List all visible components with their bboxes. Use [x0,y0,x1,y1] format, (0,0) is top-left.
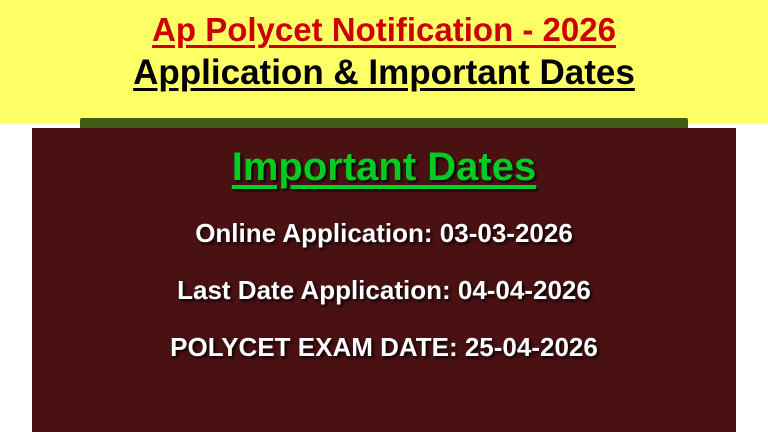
list-item: POLYCET EXAM DATE: 25-04-2026 [170,332,598,363]
list-item: Last Date Application: 04-04-2026 [177,275,591,306]
card-title: Important Dates [32,142,736,192]
list-item: Online Application: 03-03-2026 [195,218,573,249]
left-margin [0,124,32,432]
header-banner: Ap Polycet Notification - 2026 Applicati… [0,0,768,124]
poster-root: Ap Polycet Notification - 2026 Applicati… [0,0,768,432]
header-title-secondary: Application & Important Dates [133,54,635,93]
header-title-primary: Ap Polycet Notification - 2026 [152,12,616,48]
right-margin [736,124,768,432]
dates-list: Online Application: 03-03-2026 Last Date… [32,218,736,363]
important-dates-card: Important Dates Online Application: 03-0… [32,128,736,432]
